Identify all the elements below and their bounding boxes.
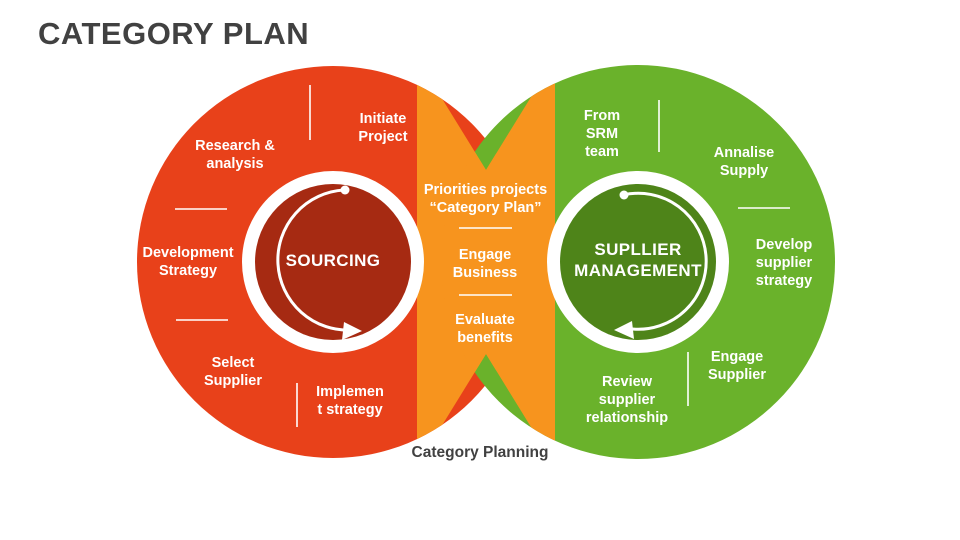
center-item-evaluate-benefits[interactable]: Evaluate benefits: [437, 311, 533, 348]
left-core-label[interactable]: SOURCING: [258, 251, 408, 272]
diagram-caption: Category Planning: [0, 444, 960, 462]
right-step-review-supplier-relationship[interactable]: Review supplier relationship: [572, 373, 682, 427]
left-arrow-start-dot: [341, 186, 350, 195]
center-item-engage-business[interactable]: Engage Business: [437, 246, 533, 283]
left-step-development-strategy[interactable]: Development Strategy: [128, 244, 248, 280]
right-core-label[interactable]: SUPLLIER MANAGEMENT: [553, 240, 723, 281]
slide-canvas: CATEGORY PLAN: [0, 0, 960, 540]
left-step-research-analysis[interactable]: Research & analysis: [160, 137, 310, 173]
right-step-engage-supplier[interactable]: Engage Supplier: [692, 348, 782, 384]
left-step-select-supplier[interactable]: Select Supplier: [178, 354, 288, 390]
left-step-implement-strategy[interactable]: Implemen t strategy: [300, 383, 400, 419]
right-step-from-srm-team[interactable]: From SRM team: [566, 107, 638, 161]
right-arrow-start-dot: [620, 191, 629, 200]
center-item-priorities-projects[interactable]: Priorities projects “Category Plan”: [413, 181, 558, 218]
right-step-annalise-supply[interactable]: Annalise Supply: [698, 144, 790, 180]
right-step-develop-supplier-strategy[interactable]: Develop supplier strategy: [738, 236, 830, 290]
left-step-initiate-project[interactable]: Initiate Project: [333, 110, 433, 146]
